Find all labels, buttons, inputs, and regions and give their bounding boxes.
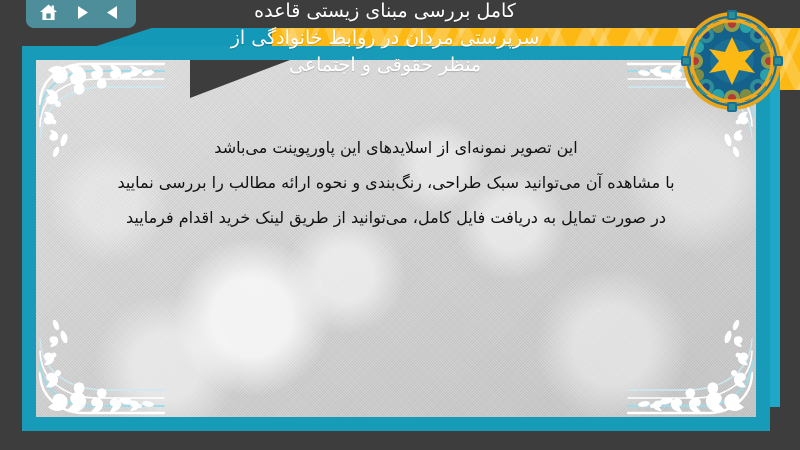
home-icon [39,3,58,22]
body-line-1: این تصویر نمونه‌ای از اسلایدهای این پاور… [36,130,756,165]
body-line-2: با مشاهده آن می‌توانید سبک طراحی، رنگ‌بن… [36,165,756,200]
back-button[interactable] [101,0,127,24]
title-line-1: کامل بررسی مبنای زیستی قاعده [80,0,690,25]
home-button[interactable] [35,0,61,24]
slide-canvas: این تصویر نمونه‌ای از اسلایدهای این پاور… [0,0,800,450]
forward-button[interactable] [68,0,94,24]
forward-arrow-icon [73,4,90,21]
navigation-bar[interactable] [26,0,136,28]
slide-body-text: این تصویر نمونه‌ای از اسلایدهای این پاور… [36,130,756,235]
body-line-3: در صورت تمایل به دریافت فایل کامل، می‌تو… [36,200,756,235]
content-panel [36,60,756,417]
ornamental-medallion [679,8,785,114]
back-arrow-icon [105,4,122,21]
